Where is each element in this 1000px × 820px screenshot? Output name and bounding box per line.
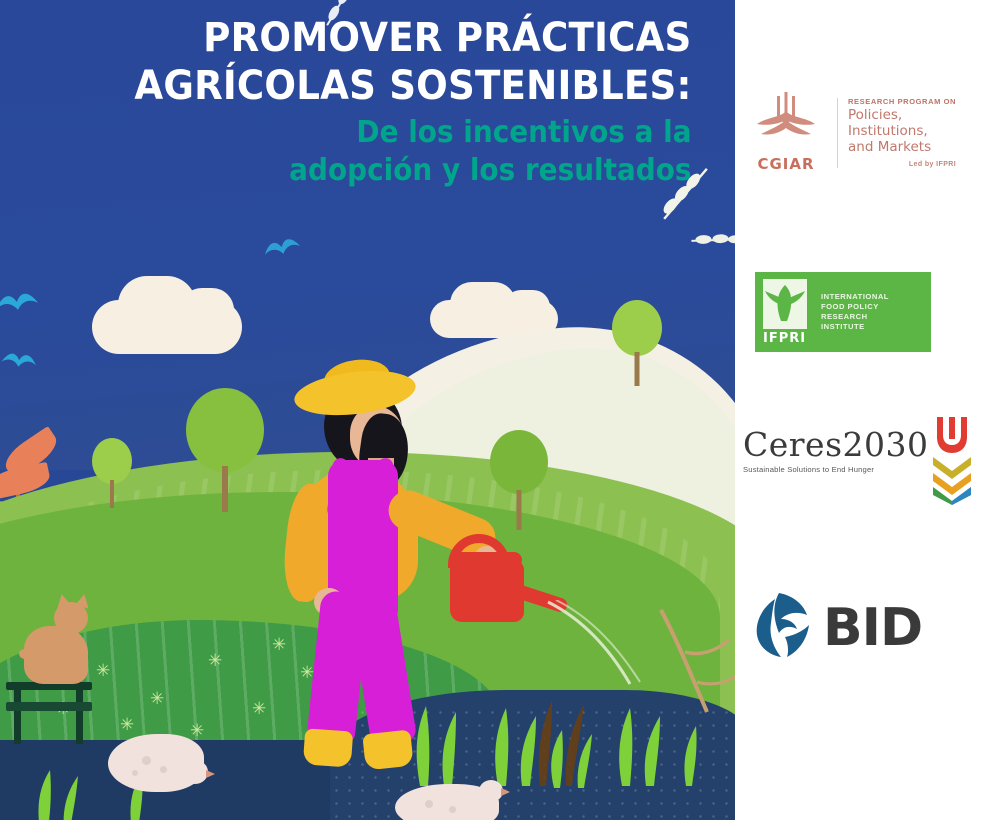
farmer-boot-right bbox=[362, 730, 414, 771]
subtitle-line-1: De los incentivos a la bbox=[50, 114, 712, 152]
cgiar-led-by: Led by IFPRI bbox=[848, 161, 956, 168]
cover-page: ✳ ✳ ✳ ✳ ✳ ✳ ✳ ✳ ✳ ✳ bbox=[0, 0, 1000, 820]
cover-title-block: PROMOVER PRÁCTICAS AGRÍCOLAS SOSTENIBLES… bbox=[0, 0, 712, 190]
cgiar-logo: CGIAR RESEARCH PROGRAM ON Policies, Inst… bbox=[745, 85, 995, 180]
ifpri-mark: IFPRI bbox=[763, 279, 815, 346]
bench bbox=[6, 682, 92, 744]
ifpri-name-line-3: RESEARCH bbox=[821, 312, 889, 322]
tree-icon bbox=[92, 438, 132, 484]
bird-icon bbox=[0, 348, 39, 374]
ifpri-name-text: INTERNATIONAL FOOD POLICY RESEARCH INSTI… bbox=[821, 292, 889, 332]
farmer-leg-right bbox=[348, 591, 417, 748]
subtitle-line-2: adopción y los resultados bbox=[50, 152, 712, 190]
cgiar-divider bbox=[837, 98, 838, 168]
cgiar-program-line-2: Institutions, bbox=[848, 123, 956, 139]
tree-icon bbox=[186, 388, 264, 472]
water-stream bbox=[546, 600, 656, 690]
cat-animal bbox=[24, 600, 94, 690]
bid-wordmark: BID bbox=[823, 598, 922, 658]
ifpri-name-line-2: FOOD POLICY bbox=[821, 302, 889, 312]
chicken-animal bbox=[395, 780, 515, 820]
logo-panel: CGIAR RESEARCH PROGRAM ON Policies, Inst… bbox=[735, 0, 1000, 820]
cgiar-mark: CGIAR bbox=[745, 92, 827, 173]
cgiar-program-line-3: and Markets bbox=[848, 139, 956, 155]
ifpri-name-line-1: INTERNATIONAL bbox=[821, 292, 889, 302]
title-line-2: AGRÍCOLAS SOSTENIBLES: bbox=[50, 62, 712, 110]
ceres2030-wheat-icon bbox=[929, 413, 975, 505]
cgiar-kicker: RESEARCH PROGRAM ON bbox=[848, 97, 956, 107]
cgiar-emblem-icon bbox=[755, 92, 817, 148]
cover-illustration: ✳ ✳ ✳ ✳ ✳ ✳ ✳ ✳ ✳ ✳ bbox=[0, 0, 735, 820]
bid-mark-icon bbox=[745, 589, 817, 666]
ifpri-wordmark: IFPRI bbox=[763, 331, 815, 346]
watering-can-icon bbox=[430, 538, 560, 648]
farmer-boot-left bbox=[303, 728, 353, 767]
cgiar-wordmark: CGIAR bbox=[745, 155, 827, 173]
cgiar-program-text: RESEARCH PROGRAM ON Policies, Institutio… bbox=[848, 97, 956, 168]
bid-logo: BID bbox=[745, 585, 995, 670]
cloud-shape bbox=[92, 300, 242, 354]
branch-icon bbox=[655, 600, 735, 720]
cgiar-program-line-1: Policies, bbox=[848, 107, 956, 123]
ifpri-name-line-4: INSTITUTE bbox=[821, 322, 889, 332]
chicken-animal bbox=[108, 726, 216, 806]
title-line-1: PROMOVER PRÁCTICAS bbox=[50, 14, 712, 62]
ceres2030-logo: Ceres2030 Sustainable Solutions to End H… bbox=[743, 425, 993, 507]
ifpri-logo: IFPRI INTERNATIONAL FOOD POLICY RESEARCH… bbox=[755, 272, 931, 352]
tree-icon bbox=[612, 300, 662, 356]
ifpri-emblem-icon bbox=[763, 279, 807, 329]
